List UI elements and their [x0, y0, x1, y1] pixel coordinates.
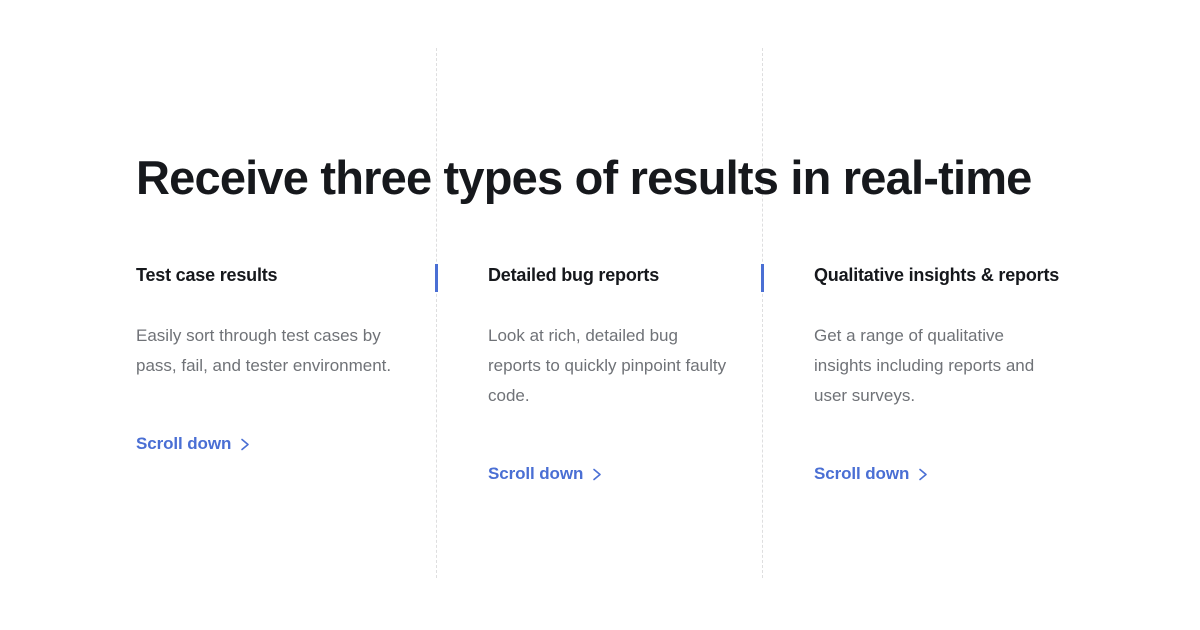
feature-column-title: Test case results	[136, 262, 402, 288]
chevron-right-icon	[592, 468, 603, 481]
feature-section: Receive three types of results in real-t…	[0, 0, 1200, 630]
feature-column-body: Easily sort through test cases by pass, …	[136, 288, 398, 381]
feature-column-list: Test case results Easily sort through te…	[136, 262, 1136, 485]
chevron-right-icon	[918, 468, 929, 481]
scroll-down-link[interactable]: Scroll down	[814, 463, 929, 485]
feature-column-test-case-results: Test case results Easily sort through te…	[136, 262, 462, 485]
feature-column-title: Detailed bug reports	[488, 262, 728, 288]
scroll-down-label: Scroll down	[136, 433, 231, 455]
scroll-down-link[interactable]: Scroll down	[488, 463, 603, 485]
scroll-down-link[interactable]: Scroll down	[136, 433, 251, 455]
page-title: Receive three types of results in real-t…	[136, 148, 1032, 208]
feature-column-detailed-bug-reports: Detailed bug reports Look at rich, detai…	[462, 262, 788, 485]
feature-column-title: Qualitative insights & reports	[814, 262, 1054, 288]
scroll-down-label: Scroll down	[488, 463, 583, 485]
scroll-down-label: Scroll down	[814, 463, 909, 485]
feature-column-body: Get a range of qualitative insights incl…	[814, 288, 1054, 411]
chevron-right-icon	[240, 438, 251, 451]
feature-column-qualitative-insights: Qualitative insights & reports Get a ran…	[788, 262, 1114, 485]
feature-column-body: Look at rich, detailed bug reports to qu…	[488, 288, 728, 411]
